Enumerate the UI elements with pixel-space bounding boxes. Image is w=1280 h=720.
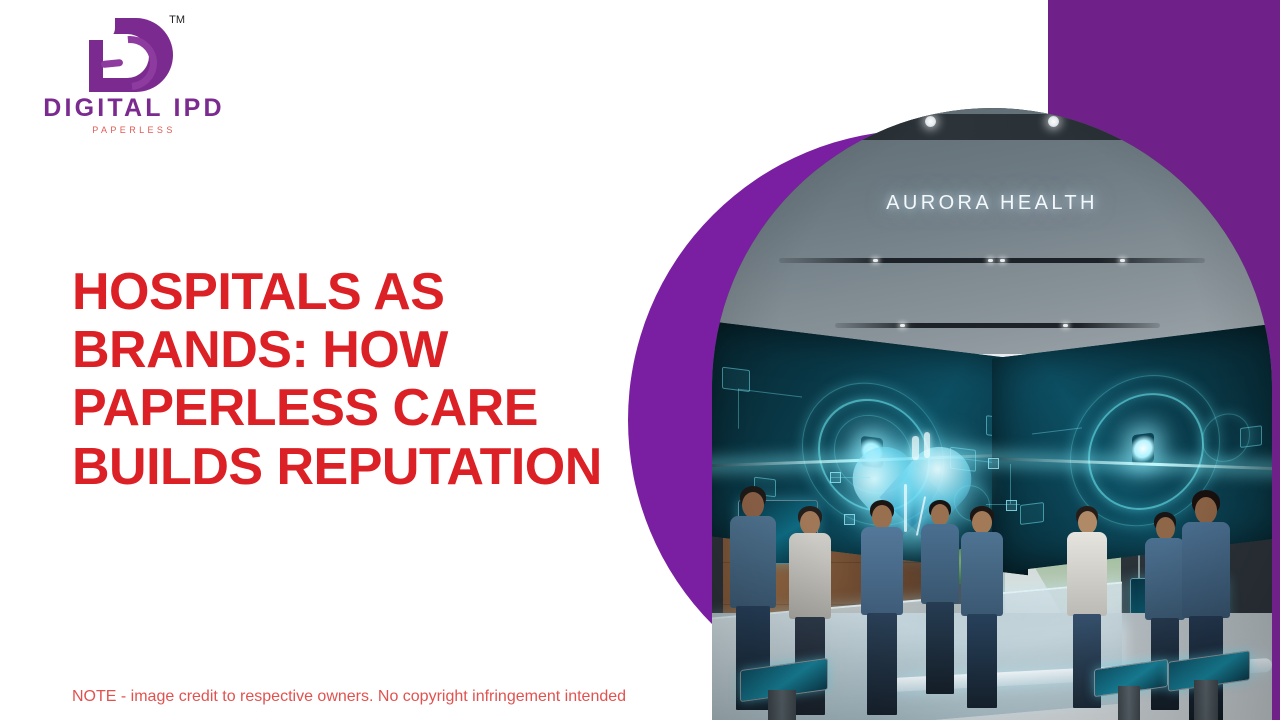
self-service-kiosk [734, 664, 834, 720]
slot-light [873, 259, 878, 262]
ceiling-light [802, 116, 813, 127]
aurora-health-signage: AURORA HEALTH [712, 192, 1272, 215]
hero-photo: AURORA HEALTH [712, 108, 1272, 720]
ceiling-light-slot [779, 258, 1205, 263]
hud-user-glyph [1132, 433, 1154, 466]
stylized-d-swirl-icon: TM [75, 14, 193, 92]
person-clinician [958, 506, 1006, 706]
image-credit-note: NOTE - image credit to respective owners… [72, 688, 626, 706]
person-nurse [858, 500, 906, 716]
ceiling-light-slot [835, 323, 1160, 328]
self-service-kiosk [1164, 656, 1256, 720]
ceiling-light [1048, 116, 1059, 127]
slot-light [1000, 259, 1005, 262]
slot-light [1063, 324, 1068, 327]
page-title: HOSPITALS AS BRANDS: HOW PAPERLESS CARE … [72, 263, 672, 496]
ceiling-light [925, 116, 936, 127]
ceiling-light [1160, 116, 1171, 127]
trademark-symbol: TM [169, 14, 185, 26]
hospital-lobby-scene: AURORA HEALTH [712, 108, 1272, 720]
slot-light [988, 259, 993, 262]
brand-name: DIGITAL IPD [34, 94, 234, 123]
brand-tagline: PAPERLESS [34, 125, 234, 135]
slot-light [1120, 259, 1125, 262]
brand-logo[interactable]: TM DIGITAL IPD PAPERLESS [34, 14, 234, 135]
hud-box [1240, 425, 1262, 448]
slot-light [900, 324, 905, 327]
hud-box [1020, 502, 1044, 525]
person-staff [918, 500, 962, 696]
poster-canvas: AURORA HEALTH [0, 0, 1280, 720]
hud-box [722, 367, 750, 392]
